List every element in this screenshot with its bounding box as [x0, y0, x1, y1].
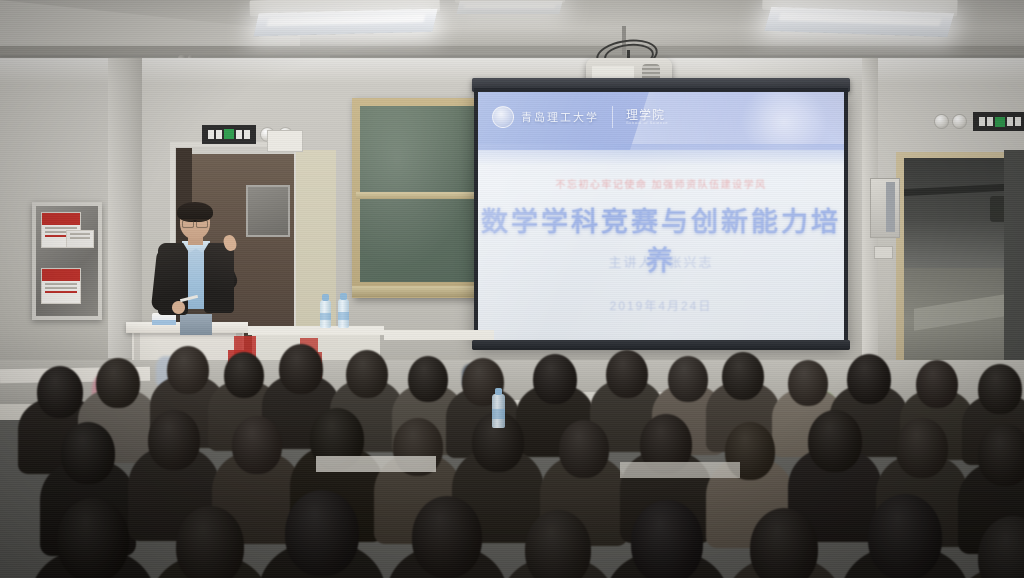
- emergency-light-body: [267, 130, 303, 152]
- student-head: [978, 424, 1024, 486]
- water-bottle-2: [338, 299, 349, 328]
- exit-glyph: [244, 130, 250, 139]
- student-head: [412, 496, 482, 578]
- ceiling-beam: [0, 46, 1024, 55]
- slide-logo-group: 青岛理工大学 理学院 School of Science: [492, 106, 668, 128]
- student-head: [847, 354, 891, 404]
- student-head: [916, 360, 958, 408]
- bottle-cap: [340, 293, 346, 300]
- fluorescent-light-fixture-1: [250, 0, 441, 38]
- presenter: [150, 205, 246, 330]
- logo-divider: [612, 106, 613, 128]
- notice-poster-2: [41, 268, 81, 304]
- poster-line: [45, 283, 77, 285]
- student-3-1: [30, 498, 156, 578]
- lecture-hall-photo: 青岛理工大学 理学院 School of Science 不忘初心牢记使命 加强…: [0, 0, 1024, 578]
- poster-header: [42, 213, 80, 225]
- emergency-lamp-pair: [934, 114, 967, 129]
- student-head: [408, 356, 448, 402]
- student-head: [978, 364, 1022, 414]
- exit-glyph: [979, 117, 985, 126]
- student-head: [37, 366, 83, 418]
- student-head: [896, 418, 948, 478]
- chalk-tray: [352, 286, 492, 297]
- student-head: [788, 360, 828, 406]
- exit-glyph: [208, 130, 214, 139]
- bottle-label: [320, 313, 331, 321]
- poster-line: [45, 287, 77, 289]
- exit-running-man-icon: [224, 129, 234, 139]
- school-name: 理学院: [626, 109, 668, 122]
- student-head: [808, 410, 862, 472]
- slide-subtitle-red: 不忘初心牢记使命 加强师资队伍建设学风: [478, 176, 844, 191]
- student-3-3: [258, 490, 386, 578]
- exit-glyph: [1015, 117, 1021, 126]
- light-tube: [457, 1, 564, 14]
- bottle-cap: [322, 294, 328, 301]
- emergency-exit-sign-left: [202, 116, 303, 152]
- university-name: 青岛理工大学: [521, 109, 599, 125]
- light-tube: [253, 8, 437, 36]
- eyeglasses-icon: [182, 219, 208, 226]
- wall-pilaster: [108, 58, 142, 358]
- wall-switch-box: [874, 246, 893, 259]
- seated-students: [0, 330, 1024, 578]
- student-head: [606, 350, 648, 398]
- fluorescent-light-fixture-3: [455, 0, 565, 16]
- student-head: [525, 510, 591, 578]
- bottle-label: [338, 312, 349, 320]
- student-3-8: [840, 494, 970, 578]
- student-head: [224, 352, 264, 398]
- bottle-label: [492, 409, 505, 419]
- student-head: [61, 422, 115, 484]
- exit-sign-plate: [202, 125, 256, 144]
- student-3-2: [150, 506, 270, 578]
- exit-sign-plate: [973, 112, 1024, 131]
- door-wall-panel: [246, 185, 290, 237]
- student-3-7: [724, 508, 844, 578]
- student-head: [668, 356, 708, 402]
- student-head: [176, 506, 244, 578]
- exit-running-man-icon: [995, 117, 1005, 127]
- student-head: [232, 416, 282, 474]
- fluorescent-light-fixture-2: [761, 0, 957, 39]
- student-head: [750, 508, 818, 578]
- exit-glyph: [236, 130, 242, 139]
- poster-line: [70, 233, 90, 235]
- slide-speaker-line: 主讲人：张兴志: [478, 252, 844, 271]
- student-head: [978, 516, 1024, 578]
- student-head: [559, 420, 609, 478]
- emergency-exit-sign-right: [934, 112, 1024, 131]
- presenter-jacket-right: [204, 243, 234, 313]
- university-seal-icon: [492, 106, 514, 128]
- student-head: [285, 490, 359, 576]
- emergency-lamp-icon: [952, 114, 967, 129]
- exit-glyph: [987, 117, 993, 126]
- student-head: [722, 352, 764, 400]
- poster-line: [45, 291, 77, 293]
- banner-glow: [739, 92, 829, 150]
- banner-gradient-fade: [478, 144, 844, 166]
- student-head: [631, 500, 703, 578]
- school-name-group: 理学院 School of Science: [626, 109, 668, 126]
- wall-electrical-panel: [870, 178, 900, 238]
- student-3-4: [386, 496, 508, 578]
- poster-header: [42, 269, 80, 281]
- notice-display-case[interactable]: [32, 202, 102, 320]
- electrical-panel-face: [886, 182, 895, 232]
- notice-poster-3: [66, 230, 94, 248]
- student-desk-row-5: [316, 456, 436, 472]
- student-head: [167, 346, 209, 394]
- bottle-cap: [495, 388, 502, 395]
- presenter-hand-left: [172, 301, 185, 314]
- student-3-9: [952, 516, 1024, 578]
- student-head: [96, 358, 140, 408]
- slide-date-line: 2019年4月24日: [478, 297, 844, 314]
- chalkboard-divider: [356, 192, 488, 199]
- student-3-5: [500, 510, 616, 578]
- student-head: [57, 498, 129, 578]
- exit-glyph: [1007, 117, 1013, 126]
- exit-glyph: [216, 130, 222, 139]
- student-head: [868, 494, 942, 578]
- student-3-6: [604, 500, 730, 578]
- emergency-lamp-icon: [934, 114, 949, 129]
- projection-screen: 青岛理工大学 理学院 School of Science 不忘初心牢记使命 加强…: [478, 92, 844, 340]
- slide-header-banner: 青岛理工大学 理学院 School of Science: [478, 92, 844, 150]
- water-bottle-1: [320, 300, 331, 328]
- student-head: [148, 410, 200, 470]
- student-head: [533, 354, 577, 404]
- student-head: [346, 350, 388, 398]
- student-head: [279, 344, 323, 394]
- student-desk-row-6: [620, 462, 740, 478]
- poster-line: [45, 227, 77, 229]
- water-bottle-3: [492, 394, 505, 428]
- poster-line: [70, 237, 90, 239]
